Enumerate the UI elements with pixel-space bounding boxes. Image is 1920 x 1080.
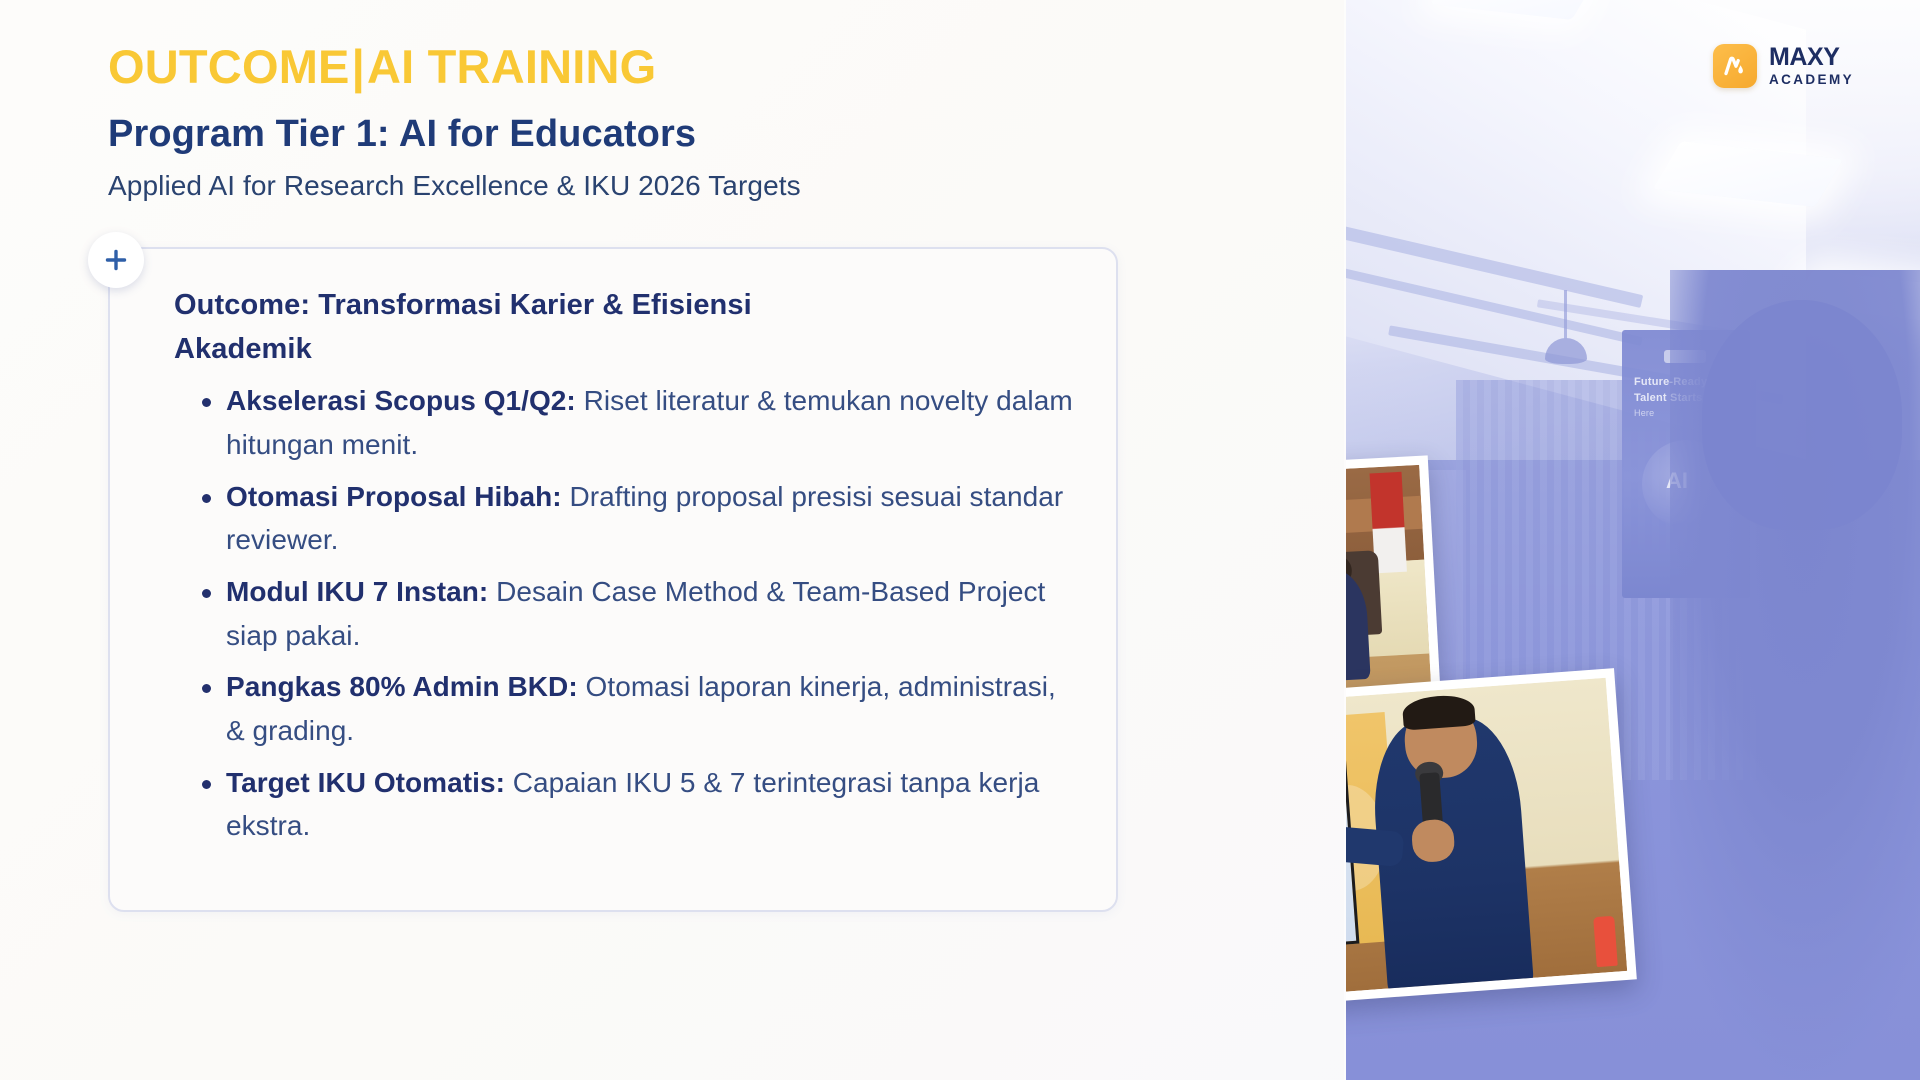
eyebrow-divider: | — [350, 40, 367, 93]
eyebrow-part1: OUTCOME — [108, 40, 350, 93]
bullet-label: Otomasi Proposal Hibah: — [226, 481, 562, 512]
bullet-label: Modul IKU 7 Instan: — [226, 576, 488, 607]
list-item: Otomasi Proposal Hibah: Drafting proposa… — [174, 475, 1076, 562]
maxy-m-logo-icon — [1713, 44, 1757, 88]
outcome-card: Outcome: Transformasi Karier & Efisiensi… — [108, 247, 1118, 912]
slide-root: OUTCOME|AI TRAINING Program Tier 1: AI f… — [0, 0, 1920, 1080]
card-heading: Outcome: Transformasi Karier & Efisiensi… — [174, 283, 874, 371]
left-content-panel: OUTCOME|AI TRAINING Program Tier 1: AI f… — [0, 0, 1346, 1080]
logo-name: MAXY — [1769, 45, 1854, 70]
page-subtitle: Applied AI for Research Excellence & IKU… — [108, 169, 1346, 203]
slide-eyebrow: OUTCOME|AI TRAINING — [108, 42, 1346, 93]
list-item: Modul IKU 7 Instan: Desain Case Method &… — [174, 570, 1076, 657]
list-item: Akselerasi Scopus Q1/Q2: Riset literatur… — [174, 379, 1076, 466]
outcome-card-wrapper: Outcome: Transformasi Karier & Efisiensi… — [108, 247, 1118, 912]
list-item: Pangkas 80% Admin BKD: Otomasi laporan k… — [174, 665, 1076, 752]
panel-divider — [1344, 0, 1346, 1080]
bullet-label: Target IKU Otomatis: — [226, 767, 505, 798]
right-media-panel: Future-Ready Talent Starts Here AI — [1346, 0, 1920, 1080]
pendant-lamp-icon — [1564, 290, 1567, 340]
bullet-label: Akselerasi Scopus Q1/Q2: — [226, 385, 576, 416]
photo-speaker-mic-image — [1346, 678, 1627, 1003]
eyebrow-part2: AI TRAINING — [367, 40, 656, 93]
plus-icon[interactable] — [88, 232, 144, 288]
page-title: Program Tier 1: AI for Educators — [108, 113, 1346, 157]
logo-tagline: ACADEMY — [1769, 73, 1854, 87]
photo-speaker-mic — [1346, 668, 1637, 1012]
list-item: Target IKU Otomatis: Capaian IKU 5 & 7 t… — [174, 761, 1076, 848]
logo-text-block: MAXY ACADEMY — [1769, 45, 1854, 87]
bullet-label: Pangkas 80% Admin BKD: — [226, 671, 578, 702]
outcome-bullet-list: Akselerasi Scopus Q1/Q2: Riset literatur… — [174, 379, 1076, 848]
foreground-silhouette-head — [1702, 300, 1902, 530]
maxy-academy-logo: MAXY ACADEMY — [1713, 44, 1854, 88]
banner-line3: Here — [1634, 408, 1654, 418]
